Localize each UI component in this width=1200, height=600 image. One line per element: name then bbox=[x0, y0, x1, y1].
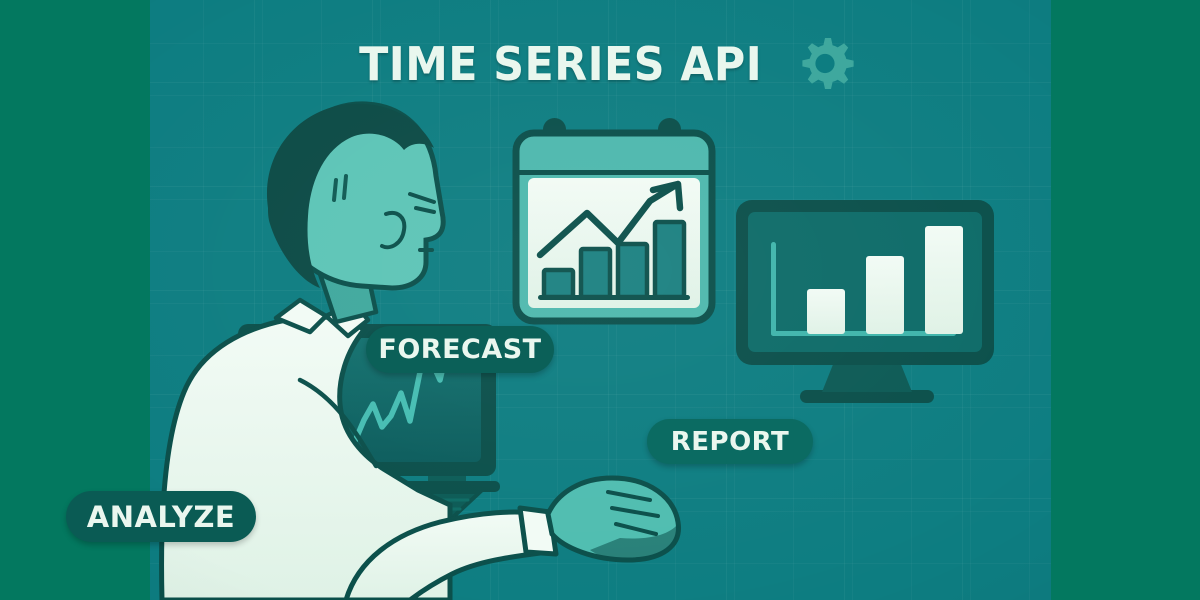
badge-analyze[interactable]: ANALYZE bbox=[66, 491, 256, 542]
right-color-band bbox=[1051, 0, 1200, 600]
main-artboard bbox=[150, 0, 1051, 600]
vignette-overlay bbox=[150, 0, 1051, 600]
badge-report[interactable]: REPORT bbox=[647, 419, 813, 464]
illustration-canvas: TIME SERIES API ANALYZE FORECAST REPORT bbox=[0, 0, 1200, 600]
badge-forecast[interactable]: FORECAST bbox=[366, 326, 554, 373]
